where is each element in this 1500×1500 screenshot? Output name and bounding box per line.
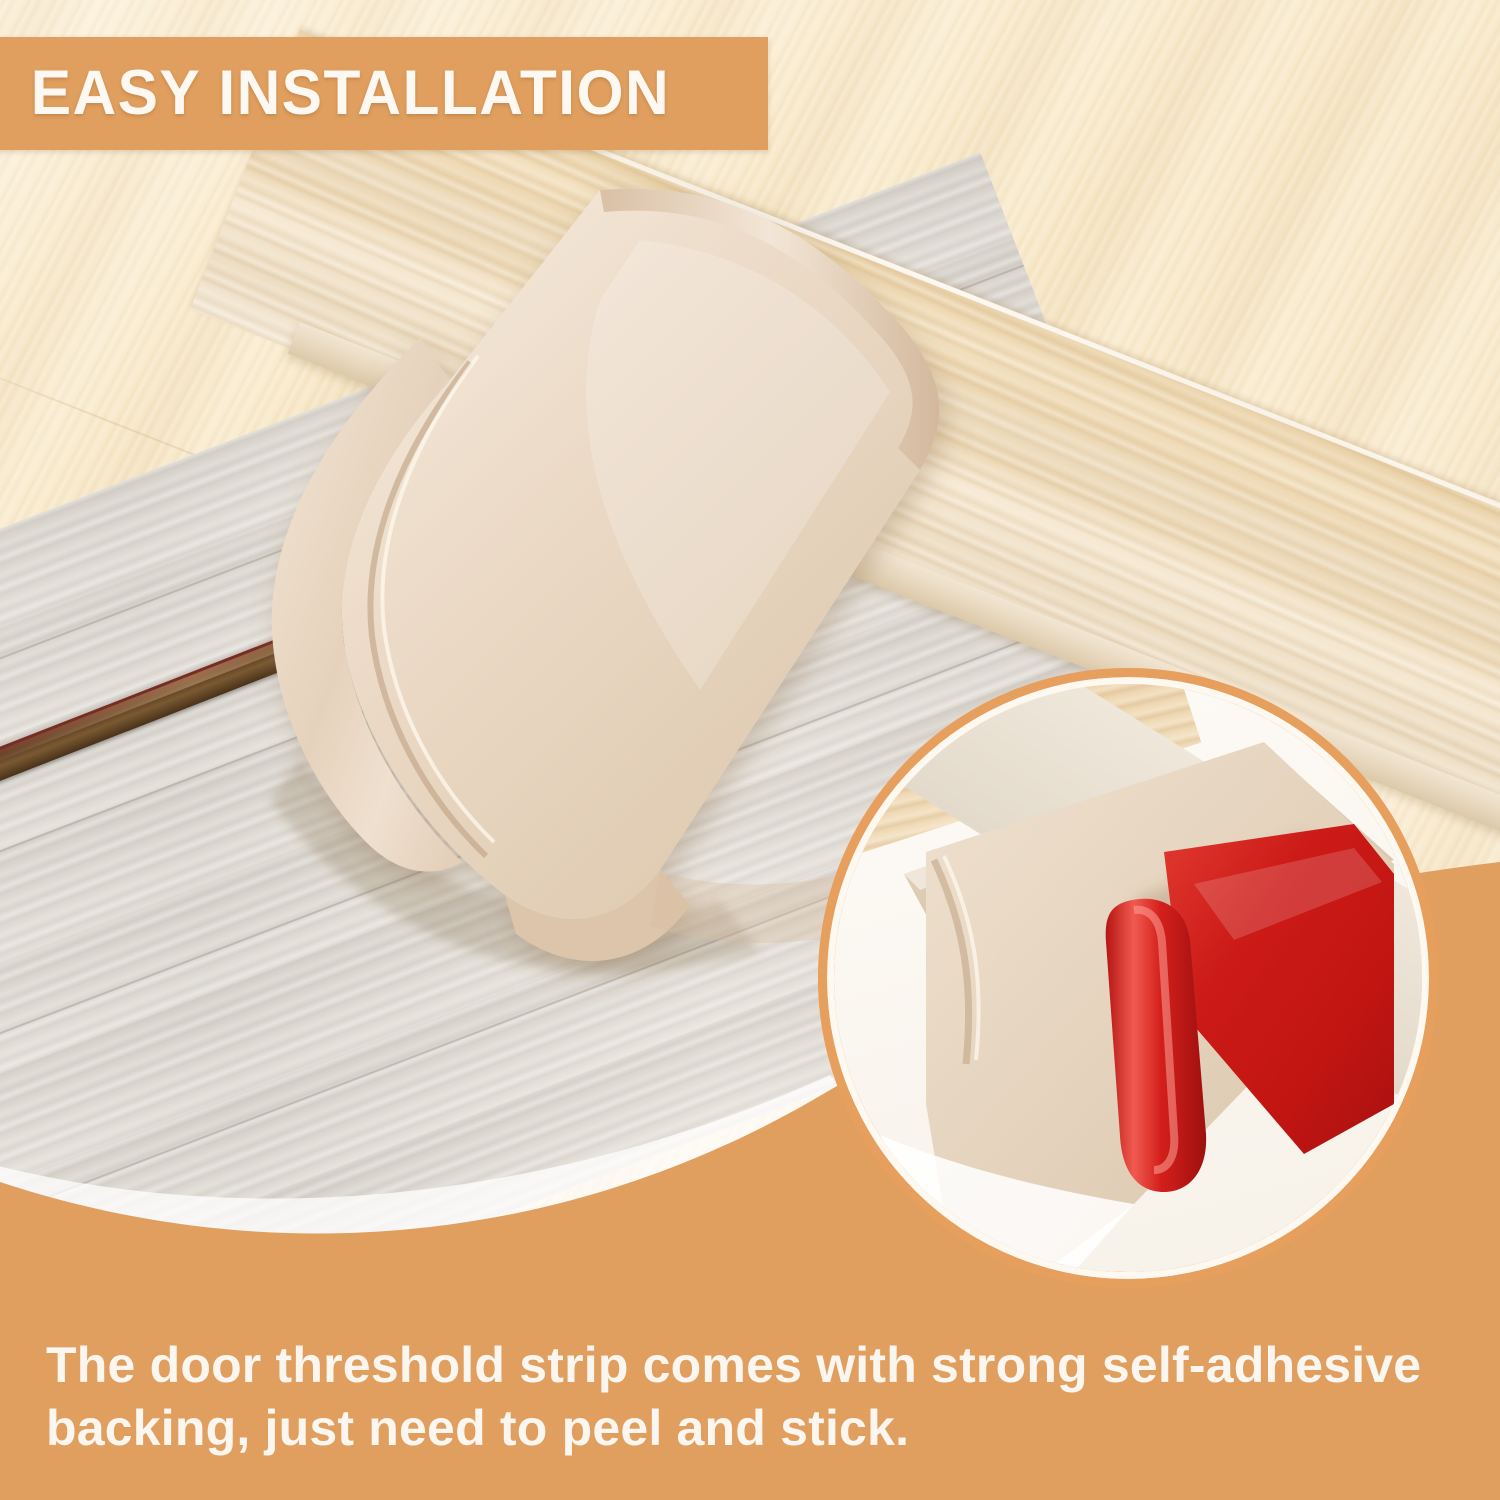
header-banner-title: EASY INSTALLATION: [0, 62, 670, 125]
product-image-canvas: EASY INSTALLATION The door threshold str…: [0, 0, 1500, 1500]
detail-inset-outer-ring: [818, 668, 1438, 1288]
header-banner: EASY INSTALLATION: [0, 37, 768, 150]
caption-text: The door threshold strip comes with stro…: [46, 1334, 1460, 1460]
detail-inset-circle: [818, 668, 1438, 1288]
